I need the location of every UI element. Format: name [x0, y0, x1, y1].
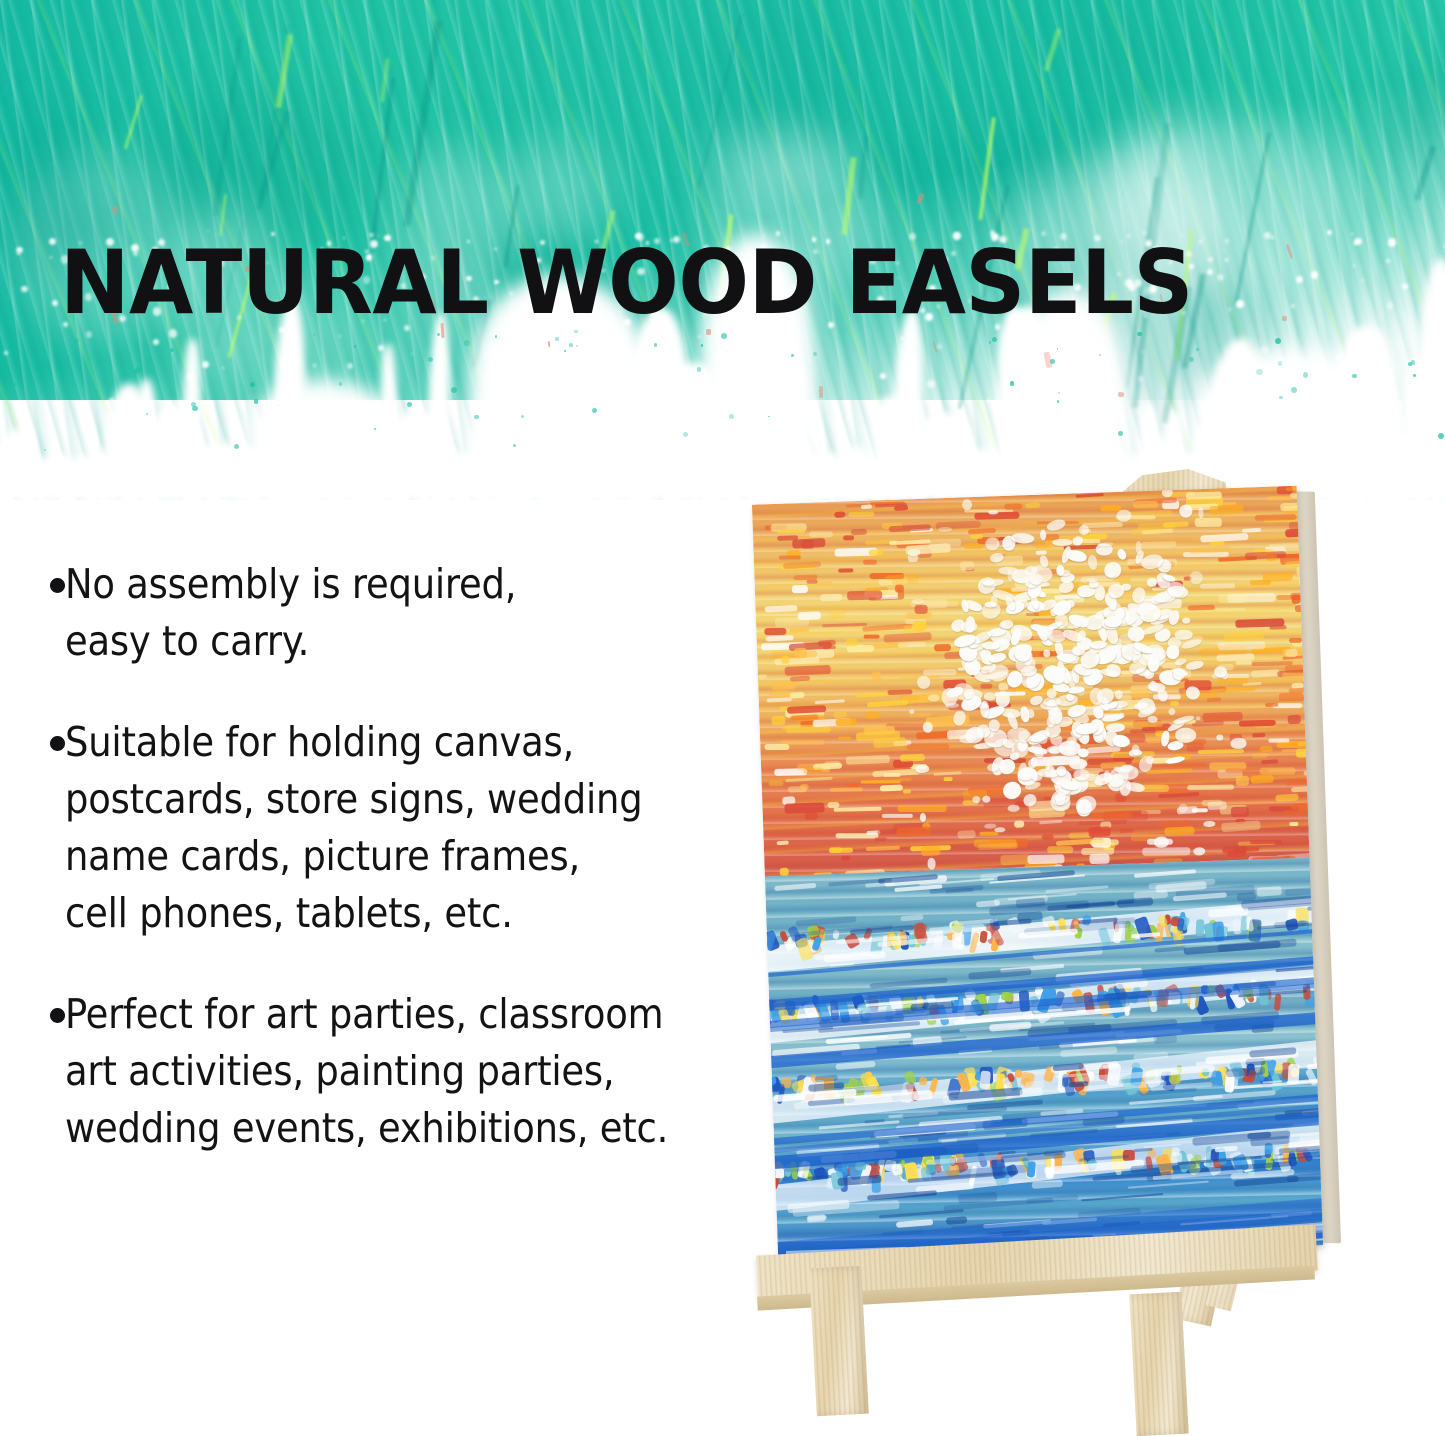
feature-list: No assembly is required, easy to carry. … [50, 556, 810, 1157]
painting-sun-impasto [938, 528, 1198, 795]
canvas-board [752, 486, 1323, 1265]
list-item: Perfect for art parties, classroom art a… [50, 986, 810, 1157]
feature-text: Suitable for holding canvas, postcards, … [65, 714, 642, 942]
bullet-dot-icon [50, 578, 65, 593]
bullet-dot-icon [50, 736, 65, 751]
feature-text: No assembly is required, easy to carry. [65, 556, 516, 670]
easel-front-leg-left [809, 1266, 869, 1417]
product-photo [745, 455, 1445, 1368]
bullet-dot-icon [50, 1008, 65, 1023]
painting-sea [765, 858, 1323, 1264]
list-item: Suitable for holding canvas, postcards, … [50, 714, 810, 942]
list-item: No assembly is required, easy to carry. [50, 556, 810, 670]
feature-text: Perfect for art parties, classroom art a… [65, 986, 668, 1157]
product-infographic: NATURAL WOOD EASELS No assembly is requi… [0, 0, 1445, 1368]
page-title: NATURAL WOOD EASELS [60, 243, 1110, 323]
sunset-seascape-painting [752, 486, 1323, 1265]
easel-front-leg-right [1129, 1292, 1188, 1436]
